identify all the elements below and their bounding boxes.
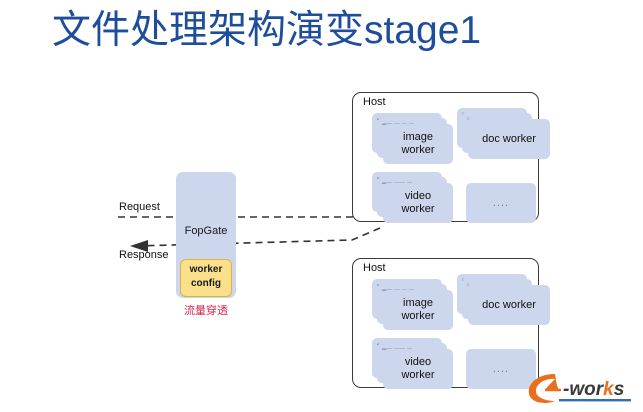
page-title: 文件处理架构演变stage1 <box>52 8 632 54</box>
connector-layer <box>0 0 643 412</box>
worker-label-line1: image <box>401 297 434 310</box>
worker-card-doc: doc worker <box>468 119 550 159</box>
worker-card-label: video worker <box>383 349 453 389</box>
worker-stack-image-2: ▬▬ ▬ ▬ ▬ ▬▬ ▬ ▬ ▬ image worker <box>372 279 450 331</box>
worker-card-doc: doc worker <box>468 285 550 325</box>
worker-card-image: image worker <box>383 124 453 164</box>
worker-config-line1: worker <box>180 263 232 277</box>
worker-label-line1: video <box>401 356 434 369</box>
response-flow-line <box>136 228 380 246</box>
eworks-tagline: e-works.net.cn <box>559 397 589 402</box>
worker-card-video: video worker <box>383 349 453 389</box>
worker-card-image: image worker <box>383 290 453 330</box>
worker-stack-image-1: ▬▬ ▬ ▬ ▬ ▬▬ ▬ ▬ ▬ image worker <box>372 113 450 165</box>
response-label: Response <box>119 249 169 261</box>
worker-stack-doc-2: c c doc worker <box>457 274 535 326</box>
worker-card-label: image worker <box>383 290 453 330</box>
worker-label-line2: worker <box>401 310 434 323</box>
worker-label-line2: worker <box>401 203 434 216</box>
worker-label-line1: doc worker <box>482 133 536 146</box>
worker-stack-video-1: ▬▬ ▬▬ ▬ ▬▬ ▬▬ ▬ video worker <box>372 172 450 224</box>
worker-card-label: doc worker <box>468 119 550 159</box>
worker-label-line2: worker <box>401 144 434 157</box>
eworks-logo: -works <box>525 368 637 408</box>
worker-stack-video-2: ▬▬ ▬▬ ▬ ▬▬ ▬▬ ▬ video worker <box>372 338 450 390</box>
host-label-2: Host <box>361 262 388 274</box>
worker-label-line1: image <box>401 131 434 144</box>
fopgate-label: FopGate <box>176 225 236 237</box>
worker-card-label: image worker <box>383 124 453 164</box>
eworks-logo-mark <box>529 374 561 403</box>
worker-label-line1: video <box>401 190 434 203</box>
slide-canvas: 文件处理架构演变stage1 Request Response FopGate … <box>0 0 643 412</box>
worker-label-line2: worker <box>401 369 434 382</box>
worker-config-label: worker config <box>180 263 232 291</box>
request-label: Request <box>119 201 160 213</box>
worker-placeholder-1: .... <box>466 183 536 223</box>
worker-card-label: doc worker <box>468 285 550 325</box>
host-label-1: Host <box>361 96 388 108</box>
worker-label-line1: doc worker <box>482 299 536 312</box>
traffic-penetration-label: 流量穿透 <box>166 302 246 318</box>
worker-config-line2: config <box>180 277 232 291</box>
worker-card-video: video worker <box>383 183 453 223</box>
worker-card-label: video worker <box>383 183 453 223</box>
worker-stack-doc-1: c c doc worker <box>457 108 535 160</box>
